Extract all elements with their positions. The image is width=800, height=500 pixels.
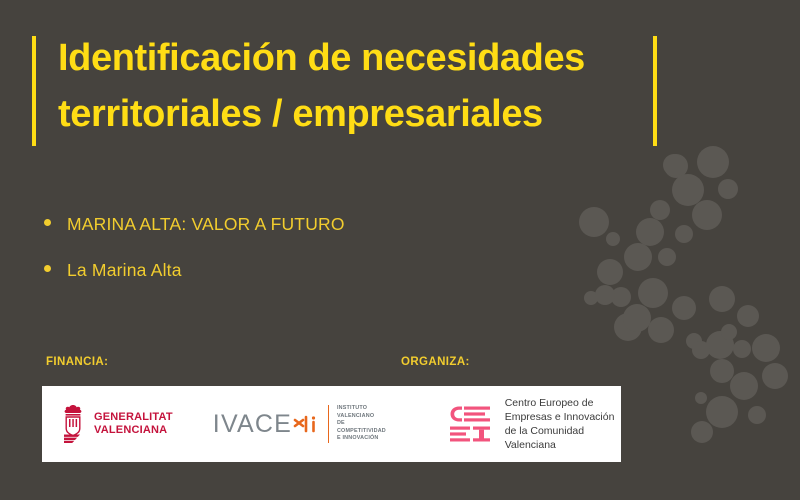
- bullet-dot-icon: [44, 265, 51, 272]
- bullet-list: MARINA ALTA: VALOR A FUTURO La Marina Al…: [44, 212, 345, 304]
- logo-ivace: IVACE INSTITUTO VALENCIANO DE COMPETITIV…: [213, 405, 389, 442]
- page-title: Identificación de necesidades territoria…: [58, 30, 648, 142]
- title-rule-right: [653, 36, 657, 146]
- ivace-plus-i-icon: [293, 411, 319, 437]
- ivace-wordmark: IVACE: [213, 410, 292, 439]
- logo-bar: GENERALITAT VALENCIANA IVACE INSTITUTO V…: [42, 386, 621, 462]
- ivace-subtitle: INSTITUTO VALENCIANO DE COMPETITIVIDAD E…: [328, 405, 389, 442]
- financia-label: FINANCIA:: [46, 356, 108, 368]
- title-block: Identificación de necesidades territoria…: [32, 36, 658, 146]
- list-item: MARINA ALTA: VALOR A FUTURO: [44, 212, 345, 236]
- logo-ceei: Centro Europeo de Empresas e Innovación …: [447, 396, 621, 452]
- list-item: La Marina Alta: [44, 258, 345, 282]
- title-rule-left: [32, 36, 36, 146]
- list-item-label: La Marina Alta: [67, 258, 182, 282]
- generalitat-wordmark: GENERALITAT VALENCIANA: [94, 411, 173, 437]
- bullet-dot-icon: [44, 219, 51, 226]
- list-item-label: MARINA ALTA: VALOR A FUTURO: [67, 212, 345, 236]
- logo-generalitat-valenciana: GENERALITAT VALENCIANA: [60, 404, 173, 444]
- ceei-monogram-icon: [447, 404, 493, 444]
- ceei-wordmark: Centro Europeo de Empresas e Innovación …: [505, 396, 621, 452]
- organiza-label: ORGANIZA:: [401, 356, 470, 368]
- slide-canvas: Identificación de necesidades territoria…: [0, 0, 800, 500]
- generalitat-crest-icon: [60, 404, 86, 444]
